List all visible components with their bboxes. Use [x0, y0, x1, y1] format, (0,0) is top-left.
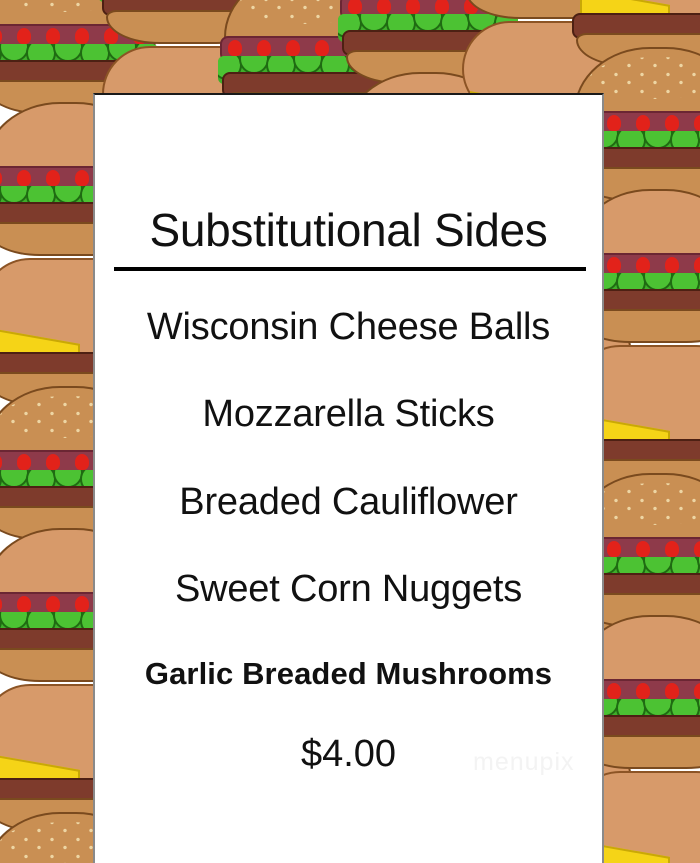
burger-ketchup — [315, 40, 329, 56]
burger-ketchup — [636, 257, 650, 273]
burger-sesame-seeds — [590, 483, 700, 525]
burger-ketchup — [75, 170, 89, 186]
burger-ketchup — [75, 454, 89, 470]
burger-ketchup — [17, 28, 31, 44]
menu-item-sweet-corn-nuggets: Sweet Corn Nuggets — [95, 570, 602, 608]
burger-ketchup — [694, 257, 700, 273]
menu-item-wisconsin-cheese-balls: Wisconsin Cheese Balls — [95, 308, 602, 346]
page-title: Substitutional Sides — [95, 207, 602, 253]
burger-ketchup — [607, 257, 621, 273]
burger-ketchup — [46, 28, 60, 44]
burger-ketchup — [665, 115, 679, 131]
burger-ketchup — [46, 596, 60, 612]
burger-ketchup — [435, 0, 449, 14]
burger-ketchup — [257, 40, 271, 56]
title-underline — [114, 267, 586, 271]
burger-ketchup — [665, 683, 679, 699]
burger-ketchup — [75, 596, 89, 612]
burger-ketchup — [228, 40, 242, 56]
burger-ketchup — [636, 541, 650, 557]
burger-ketchup — [17, 454, 31, 470]
burger-ketchup — [607, 683, 621, 699]
burger-sesame-seeds — [590, 57, 700, 99]
burger-ketchup — [46, 170, 60, 186]
menu-card: Substitutional Sides Wisconsin Cheese Ba… — [93, 93, 604, 863]
burger-ketchup — [46, 454, 60, 470]
burger-ketchup — [0, 596, 2, 612]
burger-ketchup — [17, 596, 31, 612]
burger-ketchup — [0, 454, 2, 470]
burger-ketchup — [0, 28, 2, 44]
burger-ketchup — [75, 28, 89, 44]
burger-ketchup — [0, 170, 2, 186]
burger-ketchup — [694, 115, 700, 131]
burger-ketchup — [607, 541, 621, 557]
menu-item-breaded-cauliflower: Breaded Cauliflower — [95, 483, 602, 521]
burger-ketchup — [348, 0, 362, 14]
burger-ketchup — [286, 40, 300, 56]
menu-item-garlic-breaded-mushrooms: Garlic Breaded Mushrooms — [95, 658, 602, 689]
burger-ketchup — [17, 170, 31, 186]
burger-ketchup — [406, 0, 420, 14]
menupix-watermark: menupix — [473, 748, 575, 777]
burger-ketchup — [377, 0, 391, 14]
menu-page: Substitutional Sides Wisconsin Cheese Ba… — [0, 0, 700, 863]
burger-ketchup — [694, 541, 700, 557]
menu-item-mozzarella-sticks: Mozzarella Sticks — [95, 395, 602, 433]
burger-ketchup — [607, 115, 621, 131]
burger-ketchup — [665, 257, 679, 273]
burger-ketchup — [636, 683, 650, 699]
burger-ketchup — [694, 683, 700, 699]
burger-ketchup — [636, 115, 650, 131]
burger-ketchup — [665, 541, 679, 557]
